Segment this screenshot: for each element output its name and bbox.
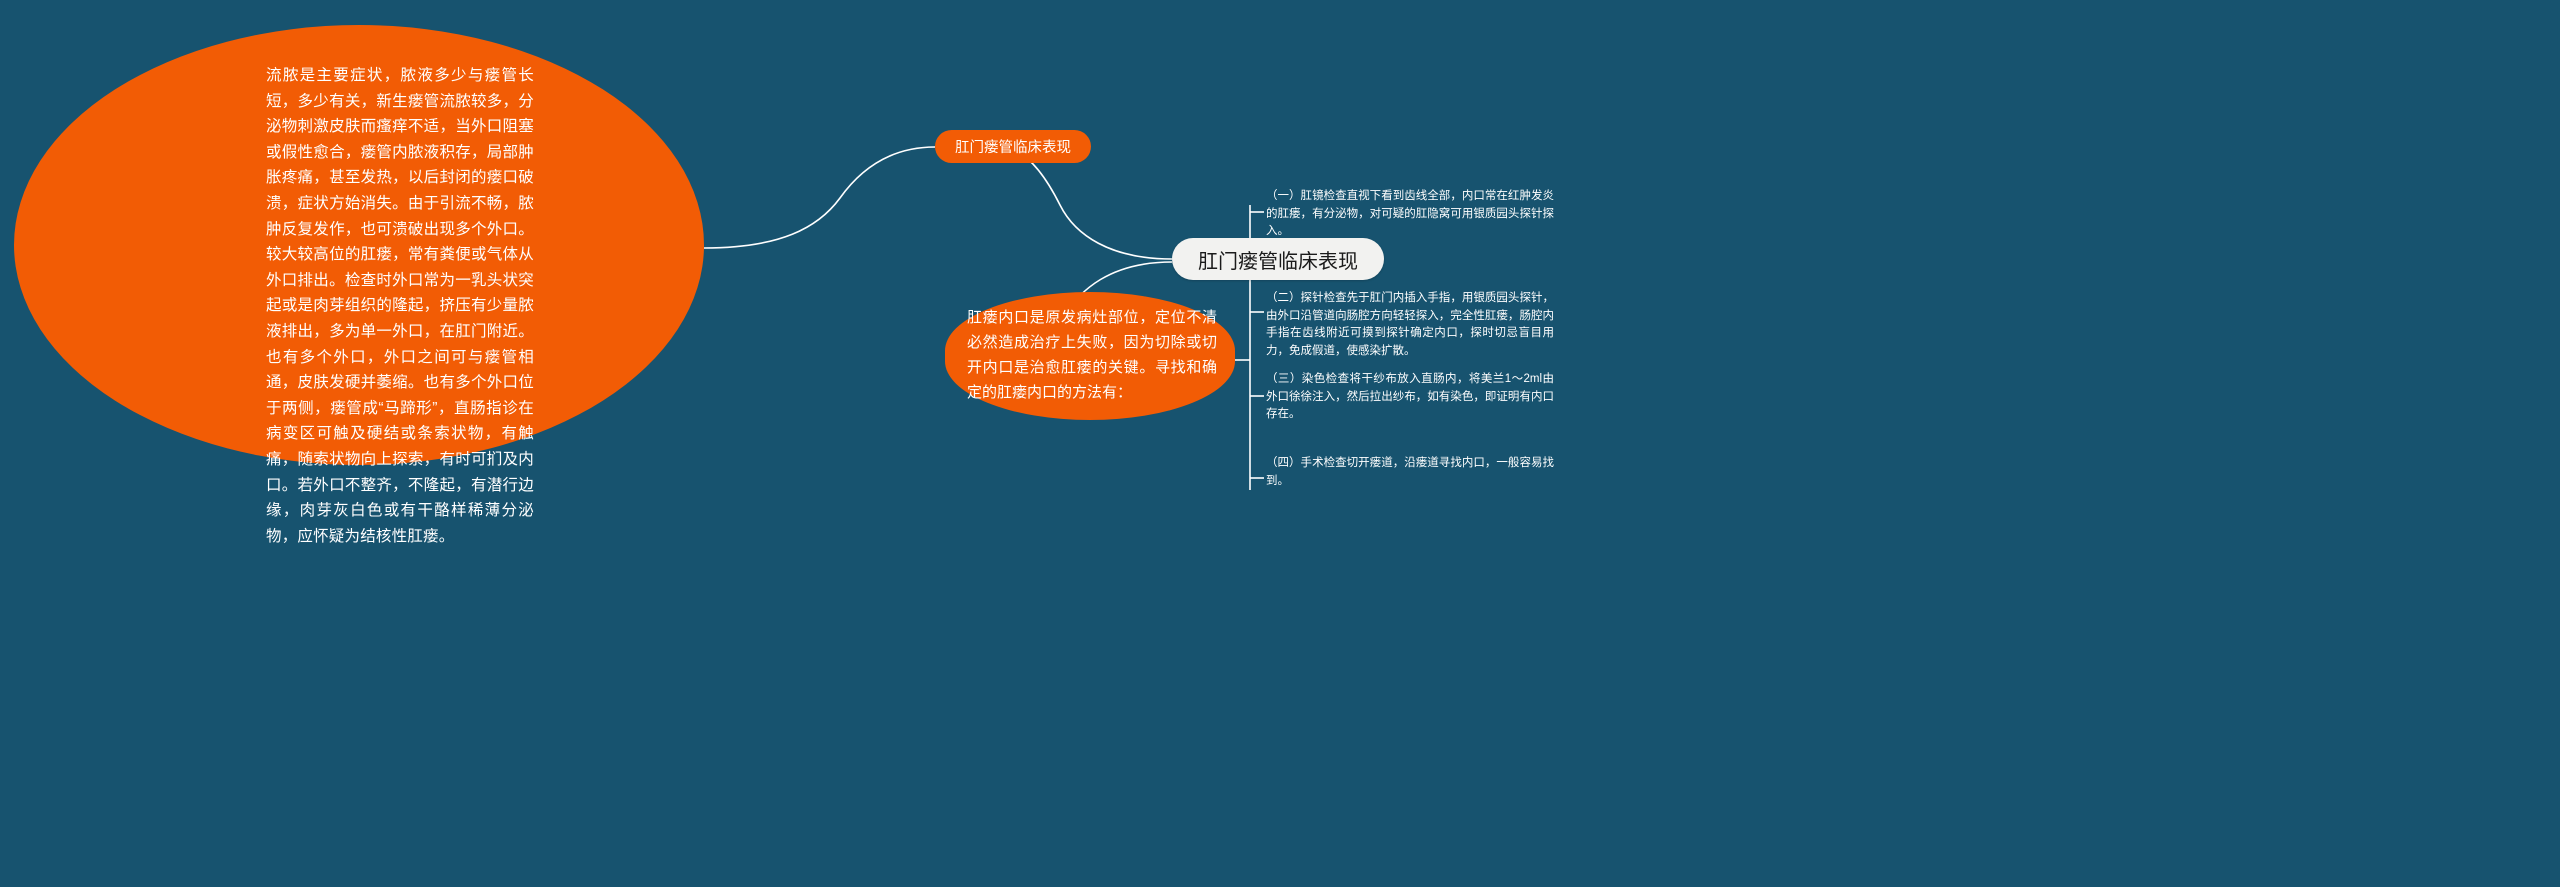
- node-inner-opening-summary[interactable]: 肛瘘内口是原发病灶部位，定位不清必然造成治疗上失败，因为切除或切开内口是治愈肛瘘…: [945, 292, 1235, 420]
- leaf-method-1[interactable]: （一）肛镜检查直视下看到齿线全部，内口常在红肿发炎的肛瘘，有分泌物，对可疑的肛隐…: [1266, 188, 1554, 241]
- root-node[interactable]: 肛门瘘管临床表现: [1172, 238, 1384, 280]
- clinical-detail-text: 流脓是主要症状，脓液多少与瘘管长短，多少有关，新生瘘管流脓较多，分泌物刺激皮肤而…: [266, 63, 534, 549]
- mindmap-canvas: 流脓是主要症状，脓液多少与瘘管长短，多少有关，新生瘘管流脓较多，分泌物刺激皮肤而…: [0, 0, 2560, 887]
- edge-root-to-clinical: [1000, 147, 1172, 259]
- leaf-method-2[interactable]: （二）探针检查先于肛门内插入手指，用银质园头探针，由外口沿管道向肠腔方向轻轻探入…: [1266, 290, 1554, 360]
- leaf-method-3[interactable]: （三）染色检查将干纱布放入直肠内，将美兰1～2ml由外口徐徐注入，然后拉出纱布，…: [1266, 371, 1554, 424]
- leaf-method-4[interactable]: （四）手术检查切开瘘道，沿瘘道寻找内口，一般容易找到。: [1266, 455, 1554, 490]
- node-clinical-manifestation[interactable]: 肛门瘘管临床表现: [935, 130, 1091, 163]
- edge-clinical-to-detail: [704, 147, 935, 248]
- clinical-detail-blob[interactable]: 流脓是主要症状，脓液多少与瘘管长短，多少有关，新生瘘管流脓较多，分泌物刺激皮肤而…: [14, 25, 704, 465]
